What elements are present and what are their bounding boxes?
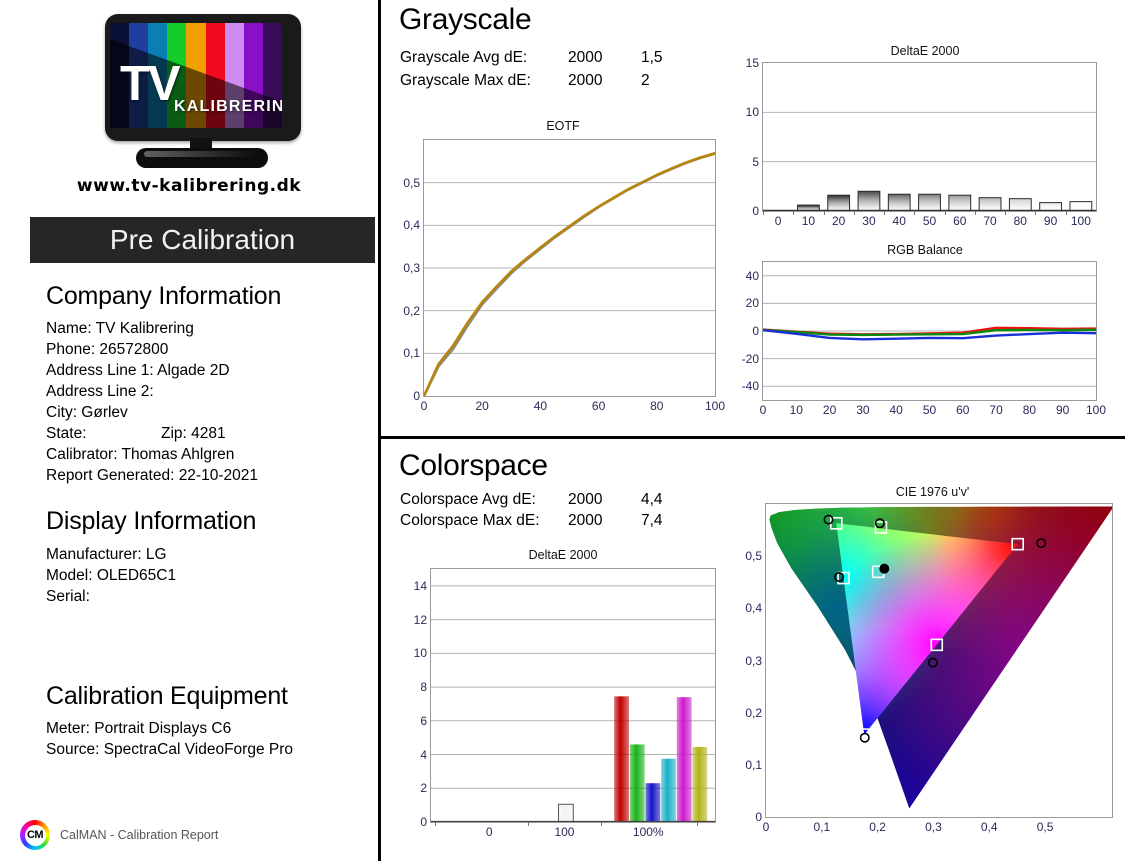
cie-xtick-2: 0,2 xyxy=(869,820,886,834)
cie-ytick-2: 0,2 xyxy=(745,706,762,720)
tv-stand-highlight xyxy=(144,151,256,157)
gsde-tickmark-8 xyxy=(1005,211,1006,215)
grayscale-deltae-chart-title: DeltaE 2000 xyxy=(740,44,1110,58)
company-state: State: xyxy=(46,423,161,444)
eotf-ytick-0: 0 xyxy=(413,389,420,403)
bar-6 xyxy=(949,195,971,211)
bar-yellow xyxy=(692,747,707,822)
csde-ytick-7: 14 xyxy=(414,579,427,593)
grayscale-max-de-value: 2 xyxy=(641,72,650,89)
eotf-xtick-3: 60 xyxy=(592,399,605,413)
eotf-plot-area: 00,10,20,30,40,5020406080100 xyxy=(423,139,716,397)
company-state-zip: State:Zip: 4281 xyxy=(46,423,226,444)
colorspace-deltae-plot-area: 024681012140100100% xyxy=(430,568,716,823)
rgb-xtick-2: 20 xyxy=(823,403,836,417)
tv-screen: TV KALIBRERING xyxy=(110,23,282,128)
eotf-ytick-3: 0,3 xyxy=(403,261,420,275)
eotf-ytick-2: 0,2 xyxy=(403,304,420,318)
vertical-divider xyxy=(378,0,381,861)
colorspace-avg-de-value: 4,4 xyxy=(641,491,663,508)
rgb-xtick-3: 30 xyxy=(856,403,869,417)
gsde-xtick-9: 90 xyxy=(1044,214,1057,228)
cie-xtick-4: 0,4 xyxy=(981,820,998,834)
cie-ytick-0: 0 xyxy=(755,810,762,824)
plot-svg xyxy=(763,262,1096,400)
company-information-heading: Company Information xyxy=(46,282,281,311)
display-information-heading: Display Information xyxy=(46,507,256,536)
horizontal-divider xyxy=(378,436,1125,439)
bar-2 xyxy=(828,195,850,211)
eotf-series-1 xyxy=(424,153,715,396)
equipment-meter: Meter: Portrait Displays C6 xyxy=(46,718,231,739)
csde-tickmark-3 xyxy=(697,822,698,826)
cie-xtick-1: 0,1 xyxy=(813,820,830,834)
equipment-source: Source: SpectraCal VideoForge Pro xyxy=(46,739,293,760)
display-serial: Serial: xyxy=(46,586,90,607)
csde-xtick-0: 0 xyxy=(486,825,493,839)
report-type-label: Pre Calibration xyxy=(30,217,375,263)
eotf-ytick-1: 0,1 xyxy=(403,346,420,360)
left-info-column: TV KALIBRERING www.tv-kalibrering.dk Pre… xyxy=(0,0,378,861)
cie-ytick-5: 0,5 xyxy=(745,549,762,563)
grayscale-deltae-chart: DeltaE 2000 0510150102030405060708090100 xyxy=(740,44,1110,234)
logo-text-sub: KALIBRERING xyxy=(174,100,282,114)
bar-magenta xyxy=(677,697,692,822)
gsde-tickmark-7 xyxy=(975,211,976,215)
cie-xtick-3: 0,3 xyxy=(925,820,942,834)
colorspace-max-de-value: 7,4 xyxy=(641,512,663,529)
csde-ytick-5: 10 xyxy=(414,646,427,660)
plot-svg xyxy=(424,140,715,396)
rgb-xtick-10: 100 xyxy=(1086,403,1106,417)
cie-chart-title: CIE 1976 u'v' xyxy=(745,485,1120,499)
gsde-tickmark-1 xyxy=(793,211,794,215)
csde-tickmark-1 xyxy=(528,822,529,826)
cie-measured-white xyxy=(880,564,888,572)
bar-4 xyxy=(888,194,910,211)
grayscale-deltae-plot-area: 0510150102030405060708090100 xyxy=(762,62,1097,212)
rgb-xtick-6: 60 xyxy=(956,403,969,417)
bar-7 xyxy=(979,198,1001,211)
plot-svg xyxy=(763,63,1096,211)
eotf-ytick-5: 0,5 xyxy=(403,176,420,190)
cie-plot-area: 00,10,20,30,40,500,10,20,30,40,5 xyxy=(765,503,1113,818)
company-phone: Phone: 26572800 xyxy=(46,339,168,360)
rgb-ytick-2: 0 xyxy=(752,324,759,338)
rgb-ytick-1: -20 xyxy=(742,352,759,366)
report-type-banner: Pre Calibration xyxy=(30,217,375,263)
calman-logo-text: CM xyxy=(25,825,46,846)
csde-ytick-1: 2 xyxy=(420,781,427,795)
colorspace-max-de-row: Colorspace Max dE:20007,4 xyxy=(400,512,663,530)
gsde-tickmark-4 xyxy=(884,211,885,215)
rgb-balance-chart: RGB Balance -40-200204001020304050607080… xyxy=(740,243,1110,428)
gsde-tickmark-5 xyxy=(914,211,915,215)
gsde-xtick-0: 0 xyxy=(775,214,782,228)
company-name: Name: TV Kalibrering xyxy=(46,318,194,339)
csde-ytick-6: 12 xyxy=(414,613,427,627)
cie-1976-chart: CIE 1976 u'v' 00,10,20,30,40,500,10,20,3… xyxy=(745,485,1120,845)
colorspace-max-de-label: Colorspace Max dE: xyxy=(400,512,568,530)
grayscale-avg-de-value: 1,5 xyxy=(641,49,663,66)
gsde-xtick-1: 10 xyxy=(802,214,815,228)
gsde-xtick-3: 30 xyxy=(862,214,875,228)
gsde-tickmark-9 xyxy=(1035,211,1036,215)
rgb-ytick-0: -40 xyxy=(742,379,759,393)
colorspace-heading: Colorspace xyxy=(399,449,548,483)
grayscale-heading: Grayscale xyxy=(399,3,531,37)
logo-wordmark: TV KALIBRERING xyxy=(120,63,282,114)
cie-ytick-1: 0,1 xyxy=(745,758,762,772)
gsde-tickmark-6 xyxy=(945,211,946,215)
company-zip: Zip: 4281 xyxy=(161,425,226,442)
cie-ytick-4: 0,4 xyxy=(745,601,762,615)
gsde-xtick-5: 50 xyxy=(923,214,936,228)
cie-ytick-3: 0,3 xyxy=(745,654,762,668)
company-address-1: Address Line 1: Algade 2D xyxy=(46,360,230,381)
rgb-xtick-7: 70 xyxy=(989,403,1002,417)
bar-cyan xyxy=(661,759,676,822)
bar-10 xyxy=(1070,202,1092,211)
gsde-xtick-6: 60 xyxy=(953,214,966,228)
gsde-xtick-10: 100 xyxy=(1071,214,1091,228)
csde-ytick-0: 0 xyxy=(420,815,427,829)
rgb-xtick-0: 0 xyxy=(760,403,767,417)
bar-blue xyxy=(645,783,660,822)
eotf-xtick-0: 0 xyxy=(421,399,428,413)
csde-xtick-2: 100% xyxy=(633,825,664,839)
eotf-series-0 xyxy=(424,154,715,396)
rgb-balance-plot-area: -40-20020400102030405060708090100 xyxy=(762,261,1097,401)
company-city: City: Gørlev xyxy=(46,402,128,423)
grayscale-max-de-label: Grayscale Max dE: xyxy=(400,72,568,90)
csde-tickmark-2 xyxy=(601,822,602,826)
rgb-ytick-3: 20 xyxy=(746,296,759,310)
eotf-chart-title: EOTF xyxy=(398,119,728,133)
gsde-tickmark-0 xyxy=(763,211,764,215)
bar-red xyxy=(614,696,629,822)
calibration-report-page: TV KALIBRERING www.tv-kalibrering.dk Pre… xyxy=(0,0,1125,861)
bar-green xyxy=(630,744,645,822)
company-address-2: Address Line 2: xyxy=(46,381,154,402)
gsde-ytick-0: 0 xyxy=(752,204,759,218)
gsde-ytick-3: 15 xyxy=(746,56,759,70)
calibration-equipment-heading: Calibration Equipment xyxy=(46,682,288,711)
colorspace-avg-de-row: Colorspace Avg dE:20004,4 xyxy=(400,491,663,509)
gsde-ytick-1: 5 xyxy=(752,155,759,169)
csde-tickmark-0 xyxy=(435,822,436,826)
gsde-tickmark-10 xyxy=(1066,211,1067,215)
grayscale-avg-de-row: Grayscale Avg dE:20001,5 xyxy=(400,49,663,67)
bar-8 xyxy=(1009,199,1031,211)
cie-xtick-5: 0,5 xyxy=(1037,820,1054,834)
gsde-ytick-2: 10 xyxy=(746,105,759,119)
eotf-ytick-4: 0,4 xyxy=(403,218,420,232)
eotf-xtick-5: 100 xyxy=(705,399,725,413)
grayscale-max-de-standard: 2000 xyxy=(568,72,641,90)
gsde-xtick-2: 20 xyxy=(832,214,845,228)
website-url: www.tv-kalibrering.dk xyxy=(0,176,378,196)
bar-9 xyxy=(1040,203,1062,211)
gsde-tickmark-2 xyxy=(824,211,825,215)
rgb-xtick-5: 50 xyxy=(923,403,936,417)
eotf-xtick-2: 40 xyxy=(534,399,547,413)
display-model: Model: OLED65C1 xyxy=(46,565,176,586)
display-manufacturer: Manufacturer: LG xyxy=(46,544,167,565)
plot-svg xyxy=(766,504,1112,817)
eotf-xtick-1: 20 xyxy=(476,399,489,413)
footer-label: CalMAN - Calibration Report xyxy=(60,828,218,842)
colorspace-deltae-chart: DeltaE 2000 024681012140100100% xyxy=(398,548,728,848)
rgb-ytick-4: 40 xyxy=(746,269,759,283)
calibrator-name: Calibrator: Thomas Ahlgren xyxy=(46,444,234,465)
colorspace-avg-de-standard: 2000 xyxy=(568,491,641,509)
bar-5 xyxy=(919,194,941,211)
gsde-tickmark-3 xyxy=(854,211,855,215)
gsde-xtick-4: 40 xyxy=(893,214,906,228)
colorspace-deltae-chart-title: DeltaE 2000 xyxy=(398,548,728,562)
gsde-xtick-7: 70 xyxy=(983,214,996,228)
colorspace-max-de-standard: 2000 xyxy=(568,512,641,530)
csde-ytick-3: 6 xyxy=(420,714,427,728)
grayscale-max-de-row: Grayscale Max dE:20002 xyxy=(400,72,650,90)
bar-white xyxy=(559,804,574,822)
tv-kalibrering-logo: TV KALIBRERING xyxy=(98,12,308,172)
gsde-xtick-8: 80 xyxy=(1014,214,1027,228)
eotf-xtick-4: 80 xyxy=(650,399,663,413)
rgb-xtick-8: 80 xyxy=(1023,403,1036,417)
eotf-chart: EOTF 00,10,20,30,40,5020406080100 xyxy=(398,119,728,419)
rgb-xtick-1: 10 xyxy=(790,403,803,417)
bar-3 xyxy=(858,191,880,211)
colorspace-avg-de-label: Colorspace Avg dE: xyxy=(400,491,568,509)
grayscale-avg-de-label: Grayscale Avg dE: xyxy=(400,49,568,67)
csde-ytick-2: 4 xyxy=(420,748,427,762)
csde-xtick-1: 100 xyxy=(554,825,574,839)
rgb-balance-chart-title: RGB Balance xyxy=(740,243,1110,257)
plot-svg xyxy=(431,569,715,822)
csde-ytick-4: 8 xyxy=(420,680,427,694)
rgb-xtick-4: 40 xyxy=(890,403,903,417)
grayscale-avg-de-standard: 2000 xyxy=(568,49,641,67)
rgb-xtick-9: 90 xyxy=(1056,403,1069,417)
calman-logo-icon: CM xyxy=(20,820,50,850)
report-generated-date: Report Generated: 22-10-2021 xyxy=(46,465,258,486)
cie-xtick-0: 0 xyxy=(763,820,770,834)
